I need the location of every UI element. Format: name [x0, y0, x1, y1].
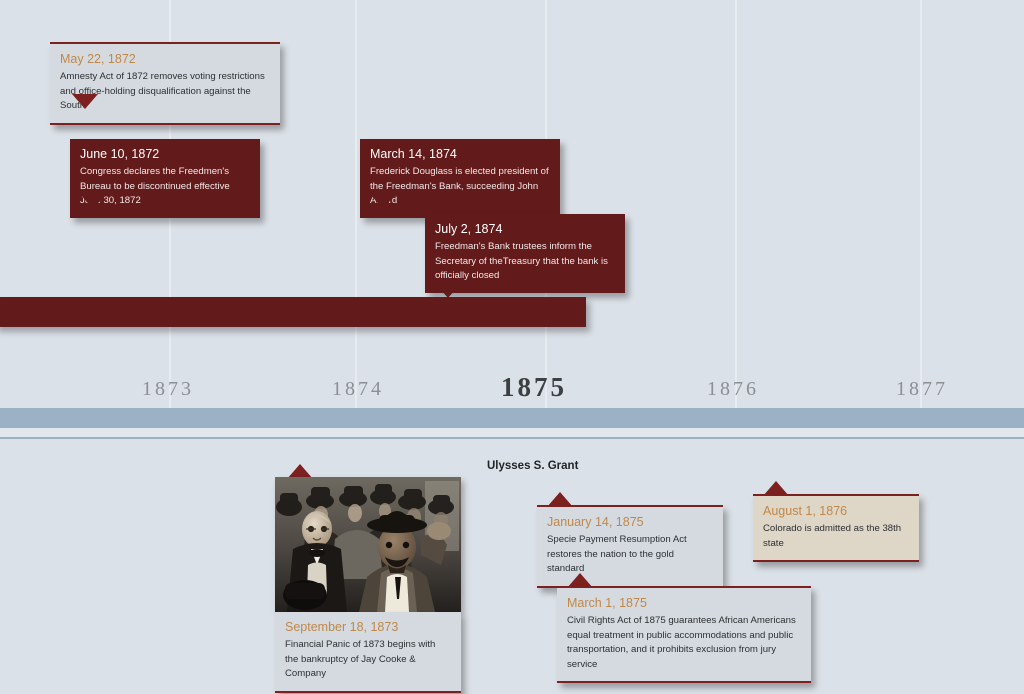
year-label-1874[interactable]: 1874 — [332, 378, 384, 401]
callout-body: March 1, 1875 Civil Rights Act of 1875 g… — [557, 588, 811, 681]
event-callout-july-2-1874[interactable]: July 2, 1874 Freedman's Bank trustees in… — [425, 214, 625, 293]
callout-body: August 1, 1876 Colorado is admitted as t… — [753, 496, 919, 560]
year-label-1876[interactable]: 1876 — [707, 378, 759, 401]
callout-text: Civil Rights Act of 1875 guarantees Afri… — [567, 614, 801, 672]
callout-date: January 14, 1875 — [547, 514, 713, 530]
callout-text: Freedman's Bank trustees inform the Secr… — [435, 240, 615, 284]
panic-of-1873-crowd-illustration[interactable] — [275, 477, 461, 612]
year-label-1873[interactable]: 1873 — [142, 378, 194, 401]
illustration-svg — [275, 477, 461, 612]
event-callout-january-14-1875[interactable]: January 14, 1875 Specie Payment Resumpti… — [537, 505, 723, 588]
year-label-1877[interactable]: 1877 — [896, 378, 948, 401]
callout-text: Colorado is admitted as the 38th state — [763, 522, 909, 551]
callout-body: May 22, 1872 Amnesty Act of 1872 removes… — [50, 44, 280, 123]
event-callout-august-1-1876[interactable]: August 1, 1876 Colorado is admitted as t… — [753, 494, 919, 562]
callout-date: August 1, 1876 — [763, 503, 909, 519]
pointer-triangle-icon — [80, 194, 106, 209]
president-label[interactable]: Ulysses S. Grant — [487, 460, 578, 472]
event-callout-may-22-1872[interactable]: May 22, 1872 Amnesty Act of 1872 removes… — [50, 42, 280, 125]
timeline-stage: May 22, 1872 Amnesty Act of 1872 removes… — [0, 0, 1024, 694]
gridline-1877 — [920, 0, 922, 408]
band-divider — [0, 428, 1024, 437]
pointer-triangle-icon — [370, 194, 396, 209]
callout-date: June 10, 1872 — [80, 146, 250, 162]
callout-date: May 22, 1872 — [60, 51, 270, 67]
callout-body: July 2, 1874 Freedman's Bank trustees in… — [425, 214, 625, 293]
callout-text: Financial Panic of 1873 begins with the … — [285, 638, 451, 682]
gridline-1874 — [355, 0, 357, 408]
year-label-1875[interactable]: 1875 — [501, 372, 567, 403]
event-callout-march-1-1875[interactable]: March 1, 1875 Civil Rights Act of 1875 g… — [557, 586, 811, 683]
event-callout-september-18-1873[interactable]: September 18, 1873 Financial Panic of 18… — [275, 612, 461, 693]
gridline-1876 — [735, 0, 737, 408]
callout-date: March 1, 1875 — [567, 595, 801, 611]
callout-date: July 2, 1874 — [435, 221, 615, 237]
president-band-rule — [0, 437, 1024, 439]
callout-body: January 14, 1875 Specie Payment Resumpti… — [537, 507, 723, 586]
callout-body: September 18, 1873 Financial Panic of 18… — [275, 612, 461, 691]
callout-date: September 18, 1873 — [285, 619, 451, 635]
callout-date: March 14, 1874 — [370, 146, 550, 162]
era-span-bar[interactable] — [0, 297, 586, 327]
timeline-scrollbar[interactable] — [0, 408, 1024, 428]
callout-text: Frederick Douglass is elected president … — [370, 165, 550, 209]
pointer-triangle-icon — [435, 283, 461, 298]
callout-text: Specie Payment Resumption Act restores t… — [547, 533, 713, 577]
pointer-triangle-icon — [72, 94, 98, 109]
